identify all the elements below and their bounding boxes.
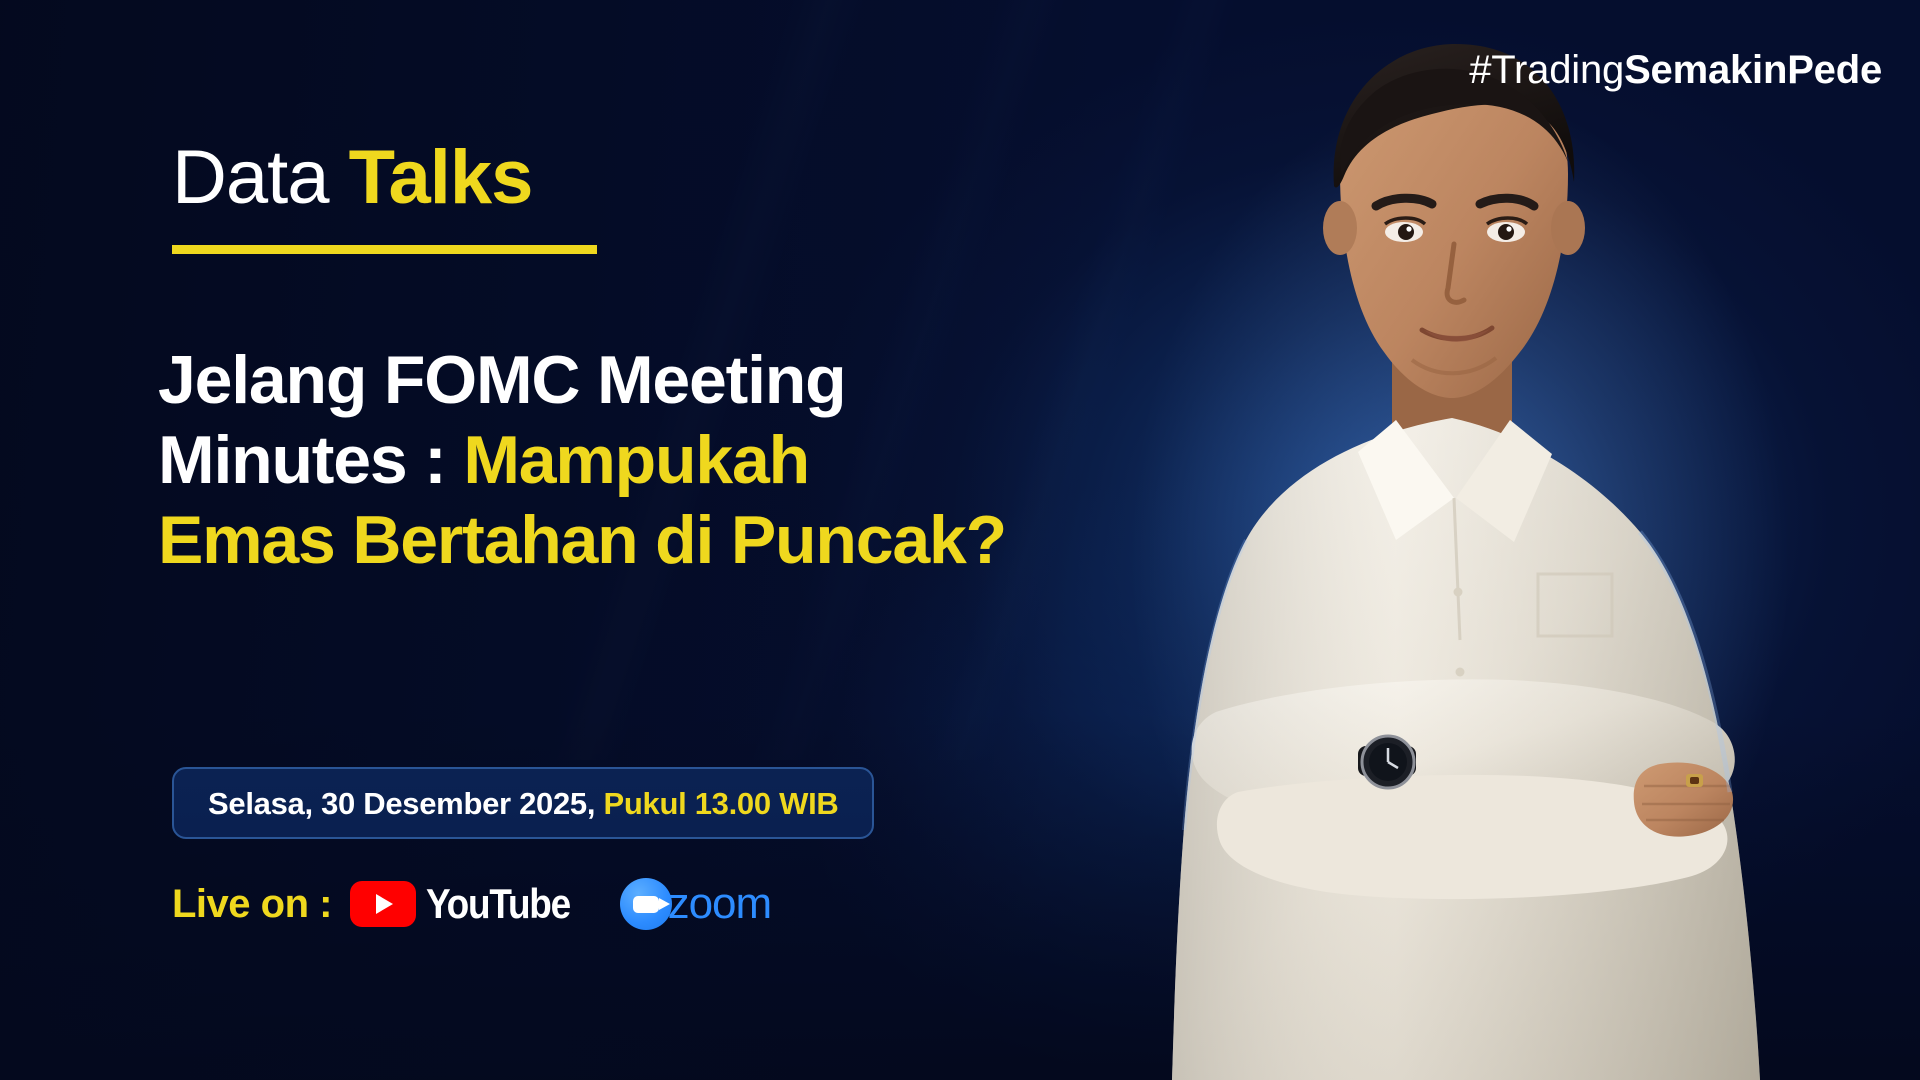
brand-word-talks: Talks bbox=[349, 135, 533, 220]
headline-line-3: Emas Bertahan di Puncak? bbox=[158, 500, 1198, 580]
zoom-icon bbox=[620, 878, 672, 930]
schedule-badge: Selasa, 30 Desember 2025, Pukul 13.00 WI… bbox=[172, 767, 874, 839]
headline: Jelang FOMC Meeting Minutes : Mampukah E… bbox=[158, 340, 1198, 581]
video-camera-icon bbox=[633, 896, 659, 913]
headline-line-2: Minutes : Mampukah bbox=[158, 420, 1198, 500]
live-platforms-row: Live on : YouTube zoom bbox=[172, 872, 771, 936]
live-on-label: Live on : bbox=[172, 884, 332, 924]
play-icon bbox=[376, 894, 393, 914]
zoom-wordmark: zoom bbox=[668, 882, 772, 926]
schedule-date: Selasa, 30 Desember 2025, bbox=[208, 786, 604, 821]
hashtag-bold-part: SemakinPede bbox=[1624, 48, 1882, 92]
hashtag-light-part: #Trading bbox=[1469, 48, 1624, 92]
headline-line-1-text: Jelang FOMC Meeting bbox=[158, 342, 845, 418]
brand-underline bbox=[172, 245, 597, 254]
headline-line-2-white: Minutes : bbox=[158, 422, 463, 498]
youtube-wordmark: YouTube bbox=[426, 883, 570, 925]
zoom-logo[interactable]: zoom bbox=[620, 878, 772, 930]
hashtag: #TradingSemakinPede bbox=[1469, 48, 1882, 93]
brand-title: Data Talks bbox=[172, 140, 532, 216]
schedule-text: Selasa, 30 Desember 2025, Pukul 13.00 WI… bbox=[208, 788, 838, 819]
brand-lockup: Data Talks bbox=[172, 140, 532, 216]
schedule-time: Pukul 13.00 WIB bbox=[604, 786, 839, 821]
webinar-poster: #TradingSemakinPede Data Talks Jelang FO… bbox=[0, 0, 1920, 1080]
brand-word-data: Data bbox=[172, 135, 349, 220]
youtube-icon bbox=[350, 881, 416, 927]
youtube-logo[interactable]: YouTube bbox=[350, 881, 590, 927]
headline-line-2-yellow: Mampukah bbox=[463, 422, 809, 498]
headline-line-1: Jelang FOMC Meeting bbox=[158, 340, 1198, 420]
headline-line-3-text: Emas Bertahan di Puncak? bbox=[158, 502, 1006, 578]
